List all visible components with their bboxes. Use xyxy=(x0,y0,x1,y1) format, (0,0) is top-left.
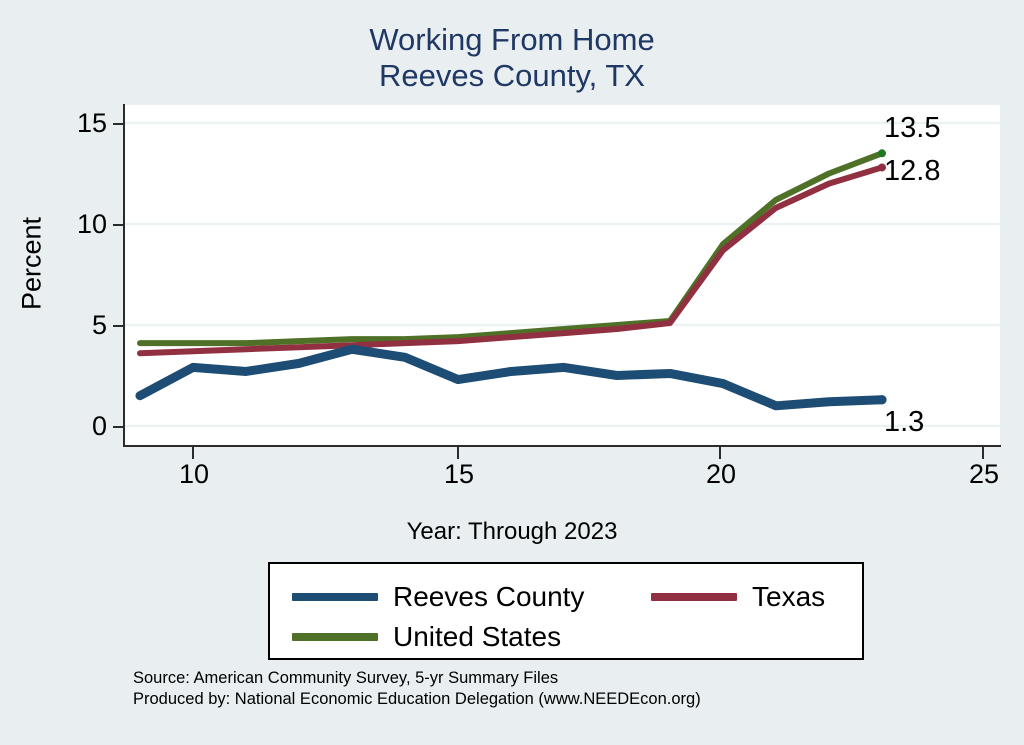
series-line-united-states xyxy=(140,153,882,343)
legend-swatch-reeves-county xyxy=(292,593,378,601)
y-tick-label-5: 5 xyxy=(43,312,107,339)
series-lines xyxy=(125,105,1000,445)
x-tick-mark-15 xyxy=(457,447,459,459)
footer-note: Source: American Community Survey, 5-yr … xyxy=(133,668,701,710)
x-tick-label-20: 20 xyxy=(686,459,756,489)
series-endpoint-reeves-county xyxy=(877,395,886,404)
x-tick-mark-10 xyxy=(192,447,194,459)
y-axis-line xyxy=(123,104,125,446)
end-label-texas: 12.8 xyxy=(884,157,940,186)
y-tick-label-10: 10 xyxy=(43,211,107,238)
chart-title: Working From Home Reeves County, TX xyxy=(0,22,1024,94)
legend-label-texas: Texas xyxy=(752,582,825,612)
end-label-reeves-county: 1.3 xyxy=(884,408,924,437)
plot-area xyxy=(125,105,1000,445)
legend-label-reeves-county: Reeves County xyxy=(393,582,584,612)
chart-canvas: Working From Home Reeves County, TX Perc… xyxy=(0,0,1024,745)
legend-item-united-states[interactable]: United States xyxy=(292,622,561,652)
legend: Reeves County Texas United States xyxy=(268,562,864,660)
x-axis-line xyxy=(123,445,1001,447)
y-tick-label-0: 0 xyxy=(43,413,107,440)
legend-swatch-texas xyxy=(651,593,737,601)
x-axis-title: Year: Through 2023 xyxy=(0,518,1024,546)
legend-item-reeves-county[interactable]: Reeves County xyxy=(292,582,584,612)
x-tick-label-15: 15 xyxy=(424,459,494,489)
legend-label-united-states: United States xyxy=(393,622,561,652)
x-tick-label-25: 25 xyxy=(949,459,1019,489)
series-line-reeves-county xyxy=(140,349,882,406)
x-tick-mark-20 xyxy=(719,447,721,459)
x-tick-label-10: 10 xyxy=(159,459,229,489)
y-tick-label-15: 15 xyxy=(43,110,107,137)
legend-item-texas[interactable]: Texas xyxy=(651,582,825,612)
x-tick-mark-25 xyxy=(982,447,984,459)
end-label-united-states: 13.5 xyxy=(884,114,940,143)
legend-swatch-united-states xyxy=(292,633,378,641)
